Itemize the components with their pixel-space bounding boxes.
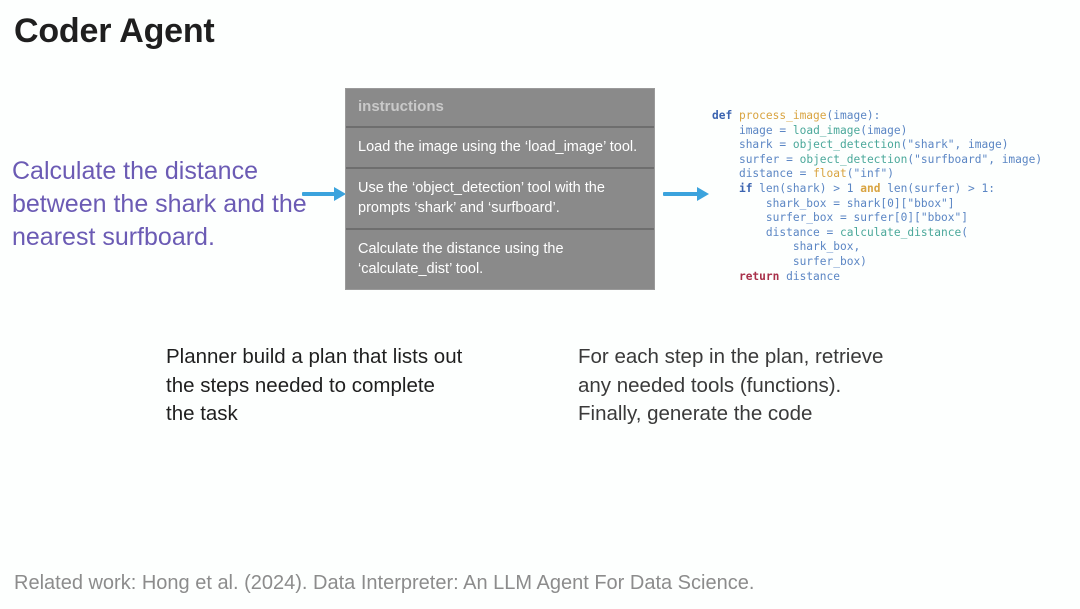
code-line: return distance (712, 270, 1042, 285)
code-indent (712, 124, 739, 137)
code-token: float (813, 167, 847, 180)
code-line: surfer = object_detection("surfboard", i… (712, 153, 1042, 168)
code-token: len(surfer) > (880, 182, 981, 195)
code-token: = surfer[ (840, 211, 901, 224)
code-token: , image) (955, 138, 1009, 151)
code-line: surfer_box) (712, 255, 1042, 270)
code-line: if len(shark) > 1 and len(surfer) > 1: (712, 182, 1042, 197)
code-line: distance = calculate_distance( (712, 226, 1042, 241)
code-token: "bbox" (921, 211, 961, 224)
code-token: distance (766, 226, 827, 239)
code-indent (712, 153, 739, 166)
code-token: calculate_distance (840, 226, 961, 239)
code-token: = (827, 226, 840, 239)
code-token: : (988, 182, 995, 195)
code-token: distance (739, 167, 800, 180)
code-token: = (779, 124, 792, 137)
instructions-table-header: instructions (346, 89, 654, 128)
code-token: 0 (887, 197, 894, 210)
code-token: object_detection (800, 153, 908, 166)
arrow-shaft (302, 192, 336, 196)
code-token: shark_box, (793, 240, 860, 253)
code-token: surfer_box (766, 211, 840, 224)
caption-coder: For each step in the plan, retrieve any … (578, 343, 888, 429)
code-token: load_image (793, 124, 860, 137)
code-indent (712, 255, 793, 268)
code-token: ][ (894, 197, 907, 210)
code-indent (712, 182, 739, 195)
footer-related-work: Related work: Hong et al. (2024). Data I… (14, 572, 754, 595)
code-token: shark (739, 138, 779, 151)
code-indent (712, 226, 766, 239)
code-token: ( (847, 167, 854, 180)
code-token: ) (887, 167, 894, 180)
arrow-right-icon-prompt-to-plan (302, 183, 348, 205)
table-row: Load the image using the ‘load_image’ to… (346, 128, 654, 169)
code-token: len(shark) > (759, 182, 847, 195)
code-token: = (779, 138, 792, 151)
code-indent (712, 240, 793, 253)
code-token: and (860, 182, 880, 195)
code-line: shark_box, (712, 240, 1042, 255)
user-prompt-text: Calculate the distance between the shark… (12, 155, 312, 254)
table-row: Calculate the distance using the ‘calcul… (346, 230, 654, 289)
code-token: shark_box (766, 197, 833, 210)
arrow-shaft (663, 192, 699, 196)
caption-planner: Planner build a plan that lists out the … (166, 343, 466, 429)
code-line: surfer_box = surfer[0]["bbox"] (712, 211, 1042, 226)
code-token: def (712, 109, 739, 122)
code-token: , image) (988, 153, 1042, 166)
code-token: return (739, 270, 786, 283)
code-indent (712, 270, 739, 283)
code-token: (image): (827, 109, 881, 122)
code-token: ] (961, 211, 968, 224)
code-token: ][ (907, 211, 920, 224)
code-token: = (786, 153, 799, 166)
arrow-right-icon-plan-to-code (663, 183, 711, 205)
code-token: "bbox" (907, 197, 947, 210)
generated-code-block: def process_image(image): image = load_i… (712, 109, 1042, 284)
instructions-table: instructions Load the image using the ‘l… (345, 88, 655, 290)
code-indent (712, 167, 739, 180)
code-token: ] (948, 197, 955, 210)
code-token: "surfboard" (914, 153, 988, 166)
code-line: distance = float("inf") (712, 167, 1042, 182)
code-token: ( (961, 226, 968, 239)
code-token: "inf" (854, 167, 888, 180)
code-token: object_detection (793, 138, 901, 151)
code-token: surfer_box) (793, 255, 867, 268)
code-line: shark = object_detection("shark", image) (712, 138, 1042, 153)
code-indent (712, 211, 766, 224)
arrow-head (697, 187, 709, 201)
code-token: = shark[ (833, 197, 887, 210)
code-token: distance (786, 270, 840, 283)
table-row: Use the ‘object_detection’ tool with the… (346, 169, 654, 230)
code-indent (712, 138, 739, 151)
code-line: def process_image(image): (712, 109, 1042, 124)
code-token: surfer (739, 153, 786, 166)
page-title: Coder Agent (14, 12, 215, 51)
code-line: shark_box = shark[0]["bbox"] (712, 197, 1042, 212)
slide-canvas: Coder Agent Calculate the distance betwe… (0, 0, 1080, 609)
code-token: if (739, 182, 759, 195)
code-indent (712, 197, 766, 210)
code-token: = (800, 167, 813, 180)
code-token: "shark" (907, 138, 954, 151)
code-token: image (739, 124, 779, 137)
code-token: process_image (739, 109, 827, 122)
code-token: (image) (860, 124, 907, 137)
code-line: image = load_image(image) (712, 124, 1042, 139)
